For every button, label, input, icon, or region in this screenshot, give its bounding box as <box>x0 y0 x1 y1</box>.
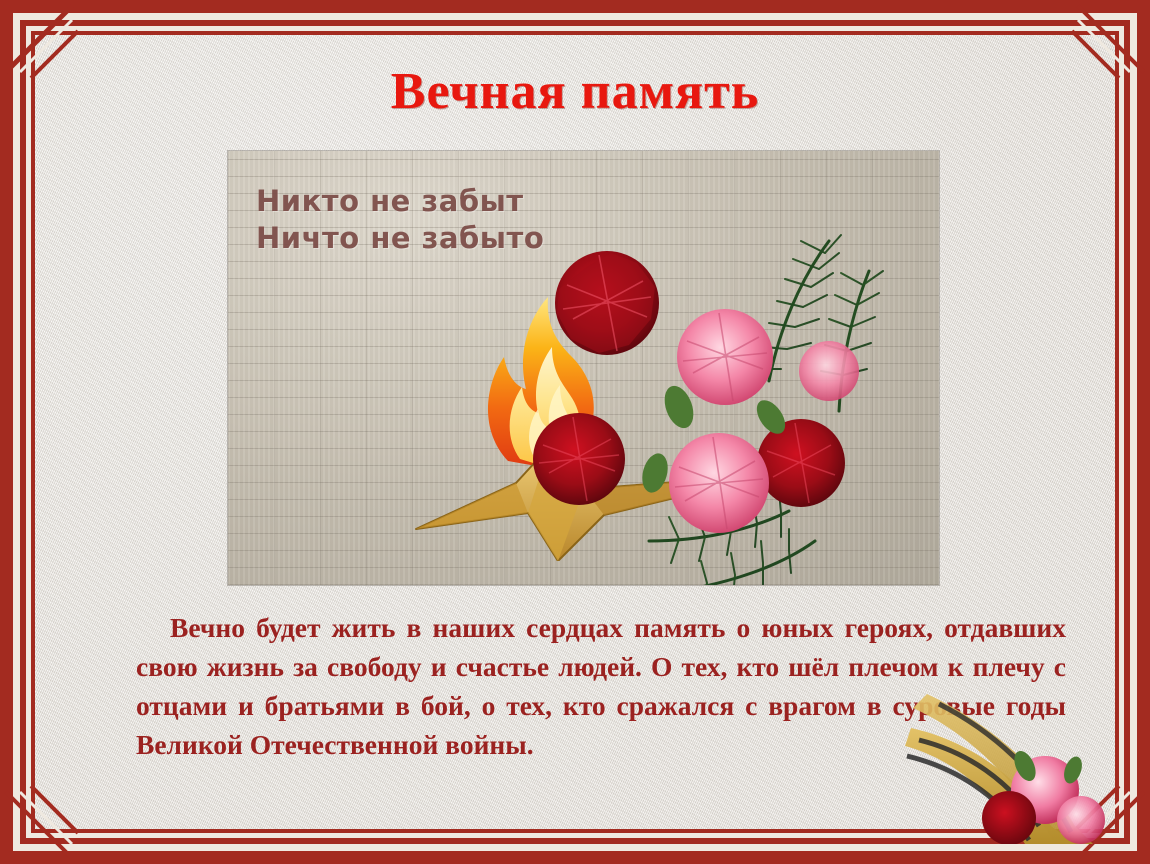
wall-inscription: Никто не забыт Ничто не забыто <box>256 183 544 257</box>
eternal-flame-memorial-photo: Никто не забыт Ничто не забыто <box>228 151 939 585</box>
slide: Вечная память Никто не забыт Ничто не за… <box>0 0 1150 864</box>
carnation-bouquet <box>529 211 939 585</box>
page-title: Вечная память <box>0 62 1150 121</box>
wall-inscription-line-2: Ничто не забыто <box>256 220 544 257</box>
body-paragraph: Вечно будет жить в наших сердцах память … <box>136 608 1066 764</box>
wall-inscription-line-1: Никто не забыт <box>256 183 544 220</box>
